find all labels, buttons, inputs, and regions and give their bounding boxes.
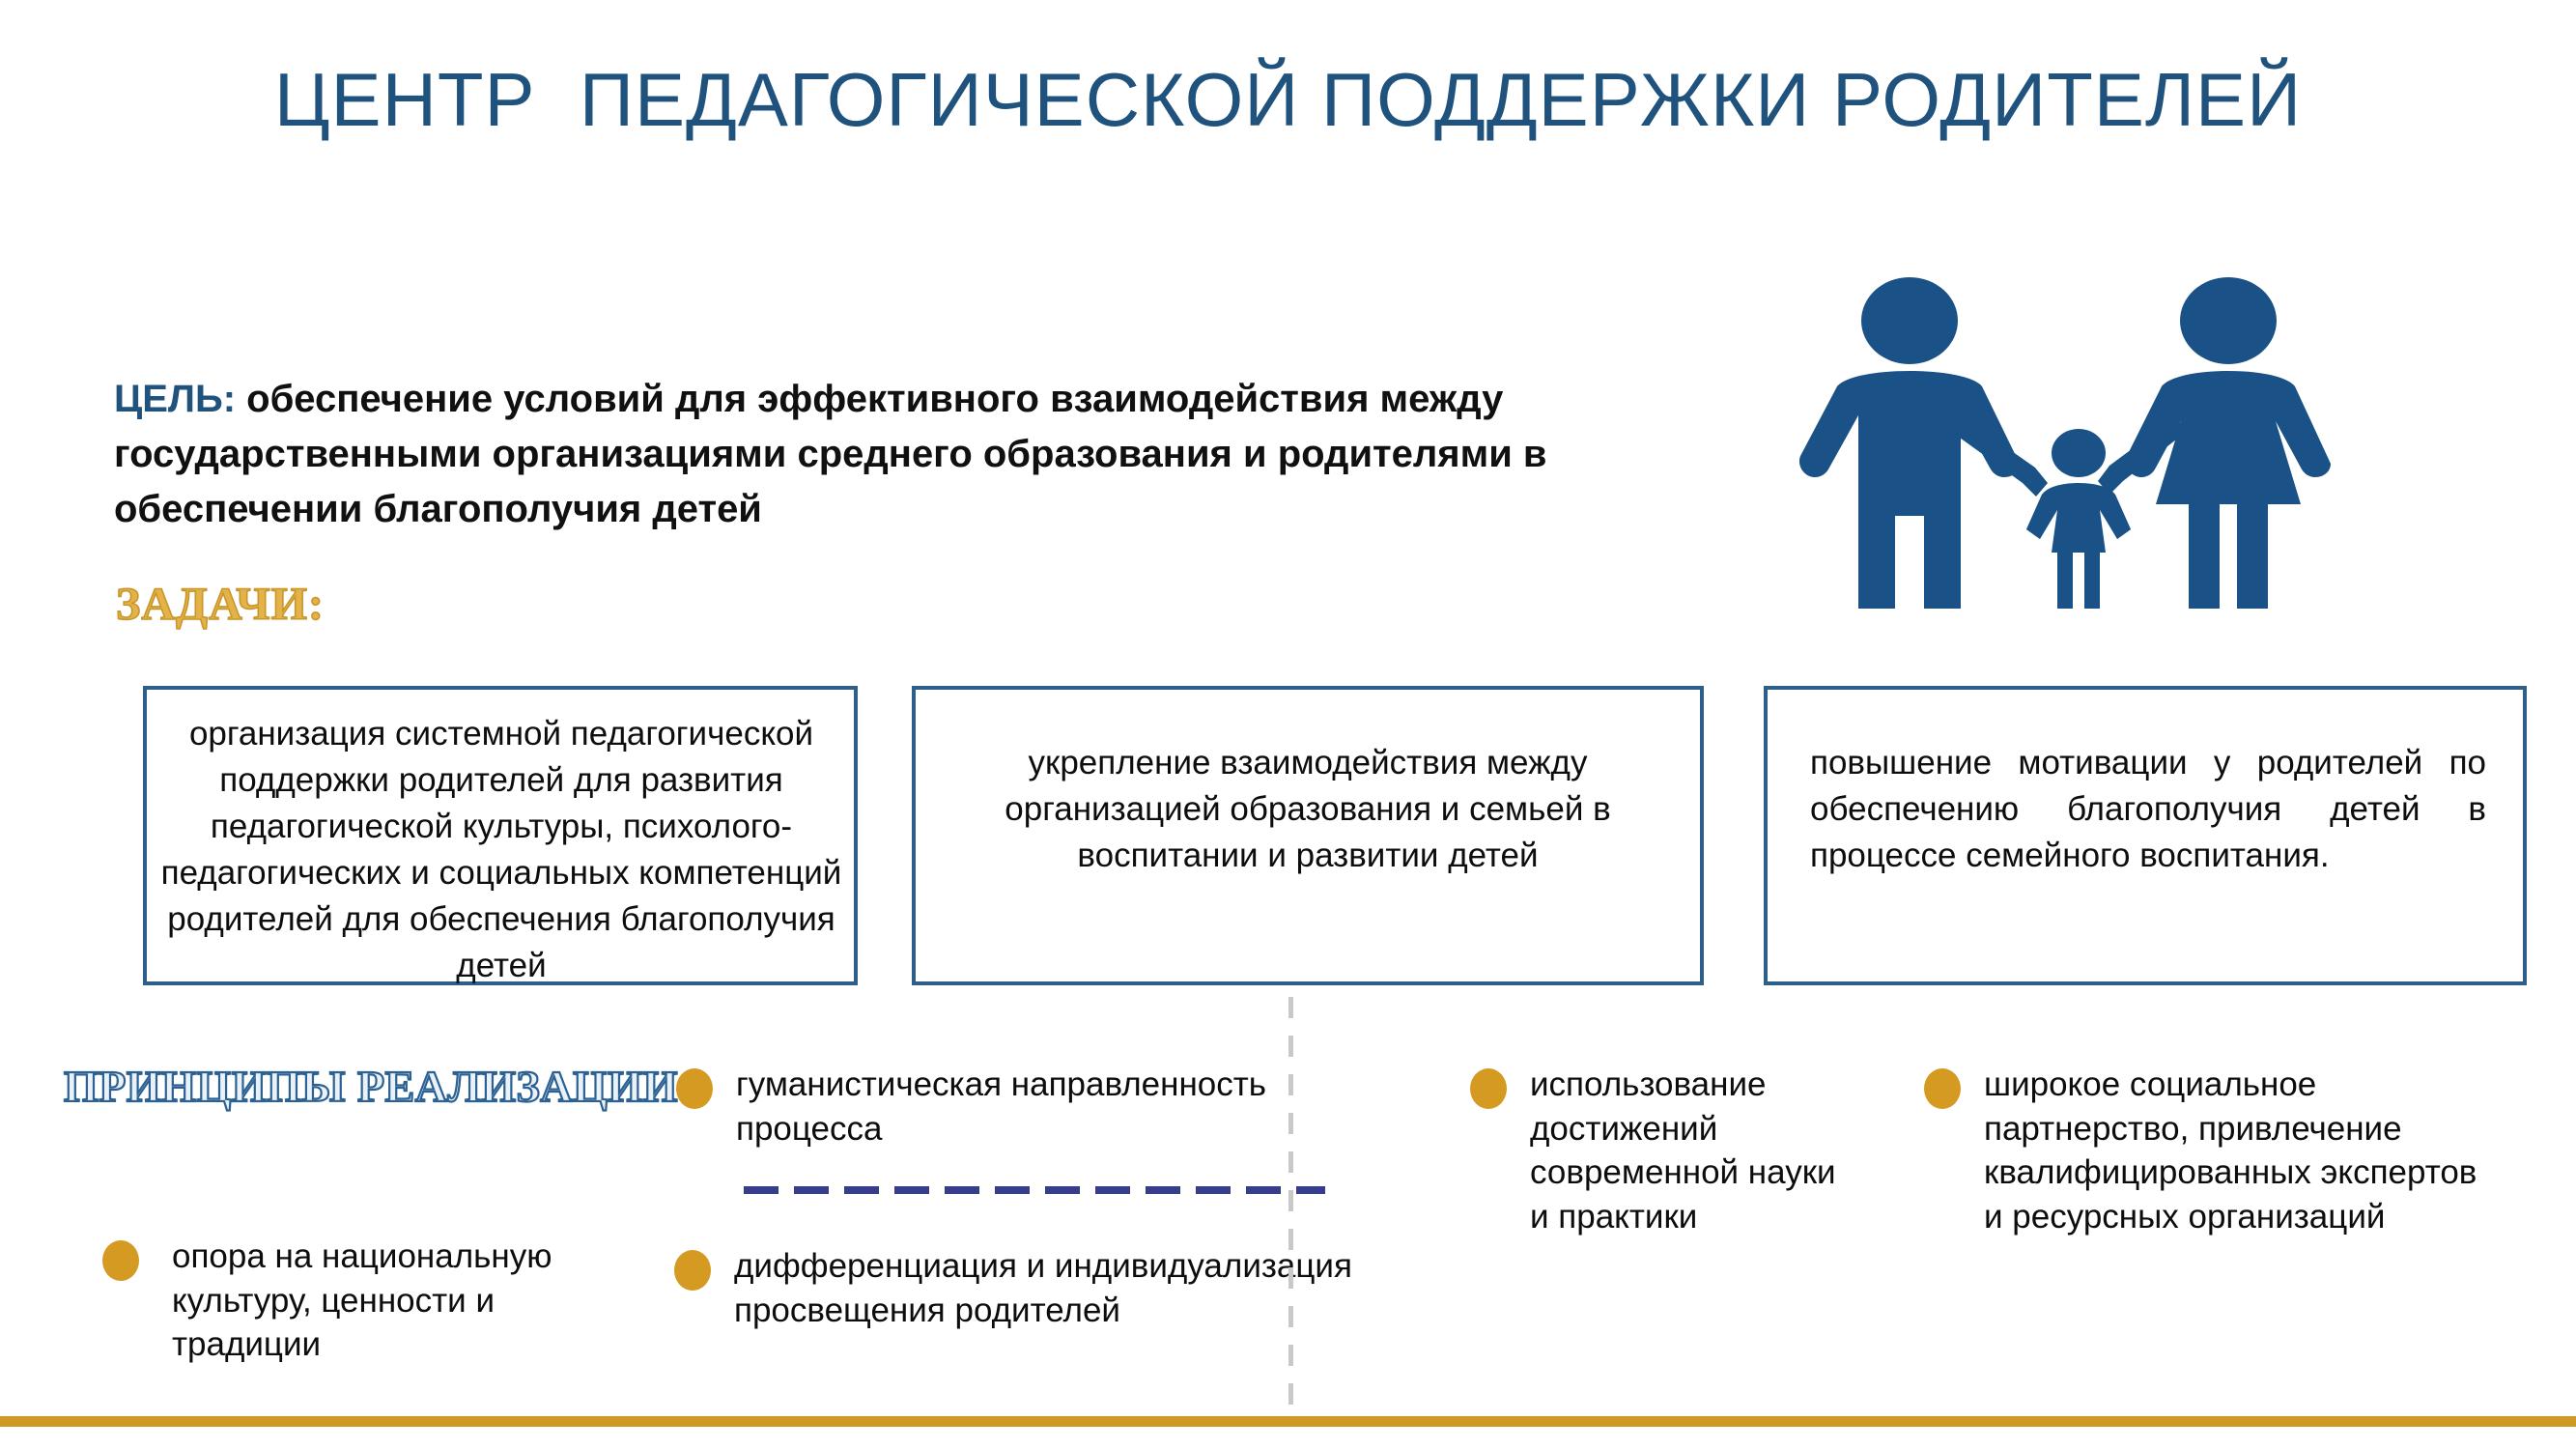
family-icon	[1798, 263, 2339, 611]
horizontal-dashed-divider	[744, 1186, 1325, 1194]
task-box-cooperation: укрепление взаимодействия между организа…	[912, 686, 1704, 985]
principle-label: использование достижений современной нау…	[1530, 1063, 1837, 1238]
task-box-text: организация системной педагогической под…	[147, 690, 854, 989]
bullet-dot-icon	[674, 1250, 711, 1291]
principle-item-humanistic: гуманистическая направленность процесса	[676, 1063, 1294, 1151]
task-box-organization: организация системной педагогической под…	[143, 686, 858, 985]
principle-item-culture: опора на национальную культуру, ценности…	[102, 1235, 585, 1367]
goal-label: ЦЕЛЬ:	[114, 378, 236, 420]
principles-heading: ПРИНЦИПЫ РЕАЛИЗАЦИИ:	[64, 1061, 694, 1112]
vertical-dashed-divider	[1288, 997, 1293, 1422]
bullet-dot-icon	[1470, 1068, 1507, 1109]
task-box-text: повышение мотивации у родителей по обесп…	[1768, 690, 2523, 879]
principle-item-partnership: широкое социальное партнерство, привлече…	[1924, 1063, 2504, 1238]
bullet-dot-icon	[102, 1240, 139, 1281]
bottom-accent-bar	[0, 1416, 2576, 1427]
principle-label: широкое социальное партнерство, привлече…	[1984, 1063, 2504, 1238]
goal-block: ЦЕЛЬ: обеспечение условий для эффективно…	[114, 372, 1640, 536]
tasks-heading: ЗАДАЧИ:	[116, 578, 325, 631]
goal-text: обеспечение условий для эффективного вза…	[114, 378, 1547, 530]
task-box-motivation: повышение мотивации у родителей по обесп…	[1764, 686, 2527, 985]
page-title: ЦЕНТР ПЕДАГОГИЧЕСКОЙ ПОДДЕРЖКИ РОДИТЕЛЕЙ	[0, 56, 2576, 144]
principle-item-differentiation: дифференциация и индивидуализация просве…	[674, 1244, 1389, 1332]
task-box-text: укрепление взаимодействия между организа…	[916, 690, 1700, 879]
bullet-dot-icon	[676, 1068, 713, 1109]
principle-label: опора на национальную культуру, ценности…	[172, 1235, 585, 1367]
principle-item-science: использование достижений современной нау…	[1470, 1063, 1837, 1238]
bullet-dot-icon	[1924, 1068, 1961, 1109]
principle-label: гуманистическая направленность процесса	[736, 1063, 1294, 1151]
